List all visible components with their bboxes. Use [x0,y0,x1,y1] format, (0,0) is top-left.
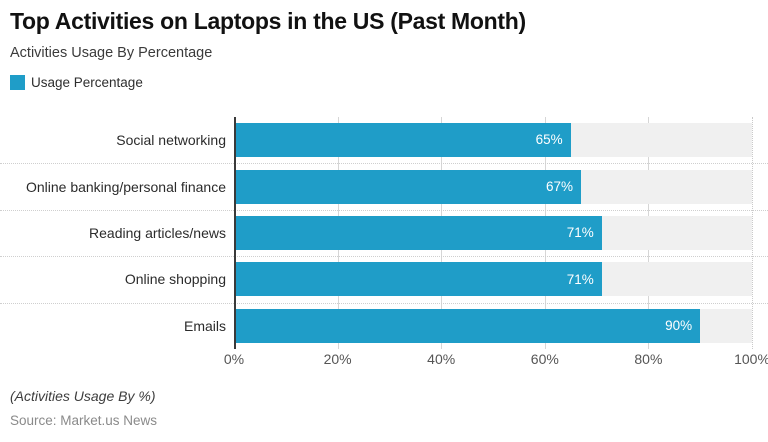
bar-fill[interactable]: 90% [234,309,700,343]
legend-square-icon [10,75,25,90]
chart-header: Top Activities on Laptops in the US (Pas… [0,0,768,90]
x-tick-label: 40% [427,352,455,366]
bar-row[interactable]: 65% [234,123,752,157]
chart-subtitle: Activities Usage By Percentage [10,45,758,62]
gridline-100 [752,117,753,349]
chart-footer: (Activities Usage By %) Source: Market.u… [10,388,157,429]
bar-fill[interactable]: 67% [234,170,581,204]
row-separator [0,210,768,211]
row-separator [0,163,768,164]
chart-legend: Usage Percentage [10,75,758,90]
footer-source: Source: Market.us News [10,413,157,429]
x-tick-label: 80% [634,352,662,366]
bar-row[interactable]: 67% [234,170,752,204]
bar-value-label: 90% [665,319,692,333]
legend-item-label: Usage Percentage [31,75,143,90]
gridline-0 [234,117,236,349]
bar-value-label: 67% [546,180,573,194]
bar-value-label: 65% [536,133,563,147]
page-title: Top Activities on Laptops in the US (Pas… [10,8,758,34]
bar-row[interactable]: 71% [234,216,752,250]
bar-fill[interactable]: 65% [234,123,571,157]
bar-value-label: 71% [567,226,594,240]
x-tick-label: 0% [224,352,244,366]
x-tick-label: 100% [734,352,768,366]
bar-fill[interactable]: 71% [234,216,602,250]
bar-row[interactable]: 71% [234,262,752,296]
bar-rows: 65%67%71%71%90% [234,117,752,349]
row-separator [0,303,768,304]
chart-plot-area: 65%67%71%71%90% [234,117,752,349]
bar-fill[interactable]: 71% [234,262,602,296]
legend-item-usage-percentage[interactable]: Usage Percentage [10,75,143,90]
x-tick-label: 60% [531,352,559,366]
chart-plot-wrap: 65%67%71%71%90% [0,117,768,349]
x-axis-tick-labels: 0%20%40%60%80%100% [0,352,768,374]
x-tick-label: 20% [324,352,352,366]
row-separator [0,256,768,257]
bar-row[interactable]: 90% [234,309,752,343]
bar-value-label: 71% [567,273,594,287]
footer-note: (Activities Usage By %) [10,388,157,405]
